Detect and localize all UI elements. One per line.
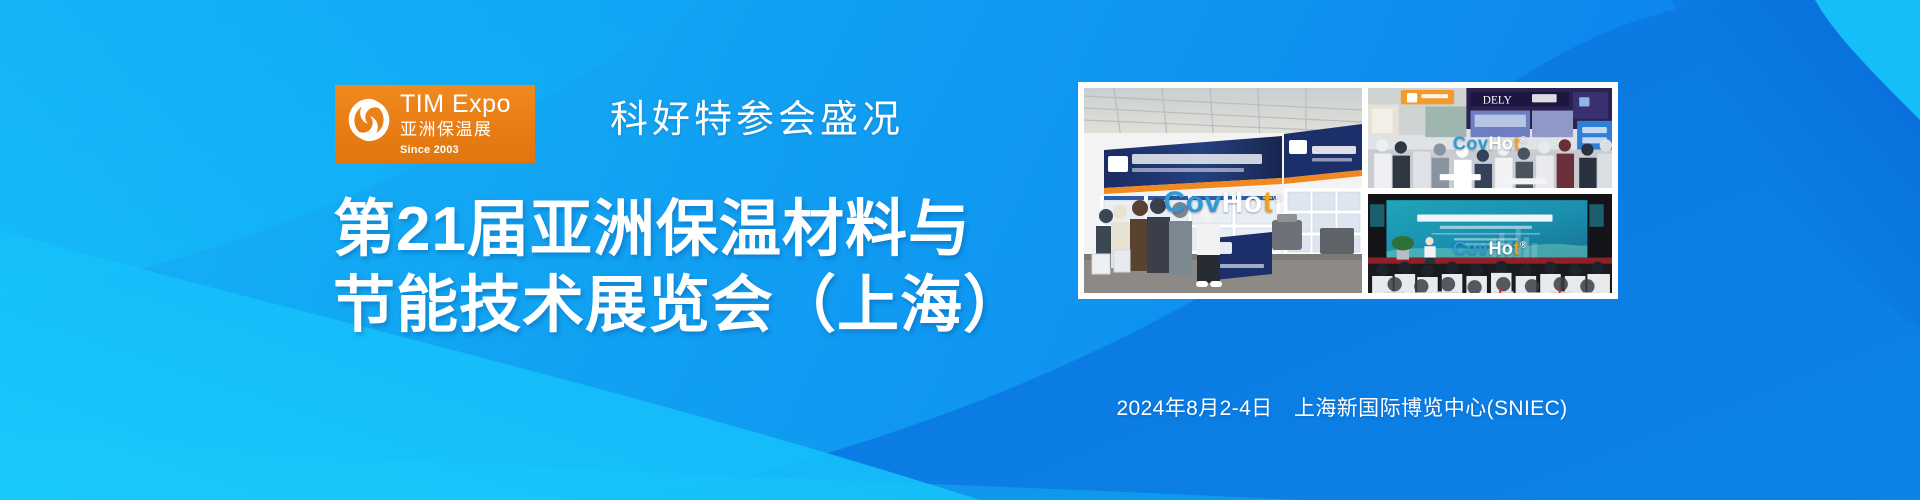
exhibition-banner: TIM Expo 亚洲保温展 Since 2003 科好特参会盛况 第21届亚洲… <box>0 0 1920 500</box>
logo-subtitle: 亚洲保温展 <box>400 121 511 138</box>
logo-since-label: Since 2003 <box>400 144 459 156</box>
headline-line-1: 第21届亚洲保温材料与 <box>333 192 1026 268</box>
collage-right-column: DELY <box>1368 88 1612 293</box>
expo-aisle-photo[interactable]: DELY <box>1368 88 1612 188</box>
photo-collage: CovHot® DELY <box>1078 82 1618 299</box>
headline-line-2: 节能技术展览会（上海） <box>333 268 1026 344</box>
tagline: 科好特参会盛况 <box>610 88 904 143</box>
svg-text:DELY: DELY <box>1483 94 1512 106</box>
swirl-circle-icon <box>344 95 394 145</box>
logo-text-block: TIM Expo 亚洲保温展 <box>400 92 511 138</box>
forum-photo[interactable]: CovHot® <box>1368 194 1612 294</box>
tim-expo-logo[interactable]: TIM Expo 亚洲保温展 Since 2003 <box>335 85 535 163</box>
date-venue-text: 2024年8月2-4日 上海新国际博览中心(SNIEC) <box>1078 392 1606 422</box>
banner-left-content: TIM Expo 亚洲保温展 Since 2003 科好特参会盛况 第21届亚洲… <box>0 0 1060 500</box>
page-title: 第21届亚洲保温材料与 节能技术展览会（上海） <box>333 192 1026 343</box>
booth-photo[interactable]: CovHot® <box>1084 88 1362 293</box>
logo-title: TIM Expo <box>400 90 511 118</box>
